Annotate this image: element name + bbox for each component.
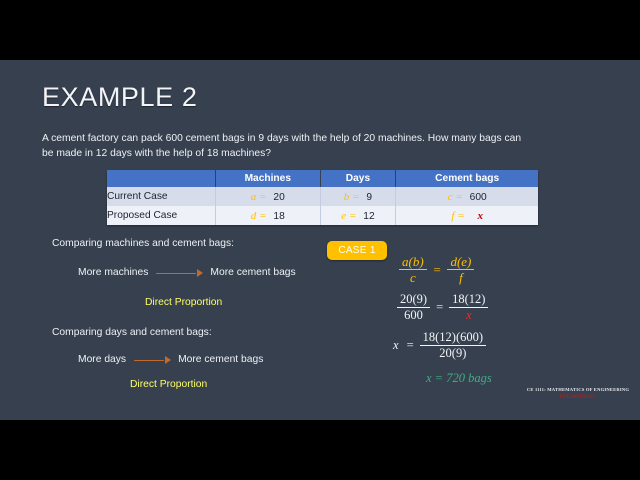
- conclusion-direct-proportion-1: Direct Proportion: [145, 297, 222, 308]
- equals-sign: =: [433, 262, 442, 278]
- conclusion-direct-proportion-2: Direct Proportion: [130, 379, 207, 390]
- row-label-current-case: Current Case: [107, 187, 216, 206]
- relation-machines-bags: More machines More cement bags: [78, 267, 296, 278]
- value-proposed-machines: 18: [273, 211, 284, 222]
- numerator-18-12: 18(12): [449, 293, 488, 307]
- cell-current-machines: a = 20: [216, 187, 321, 206]
- table-body: Current Case a = 20 b = 9 c = 600: [107, 187, 538, 225]
- equation-solve-for-x: x = 18(12)(600) 20(9): [393, 331, 596, 359]
- table-row: Current Case a = 20 b = 9 c = 600: [107, 187, 538, 206]
- denominator-unknown-x: x: [463, 308, 475, 322]
- watermark-logo: ENGINEERING: [524, 394, 632, 400]
- column-header-cement-bags: Cement bags: [396, 170, 538, 187]
- denominator-f: f: [456, 270, 466, 284]
- fraction-right-numeric: 18(12) x: [449, 293, 488, 321]
- fraction-left-numeric: 20(9) 600: [397, 293, 430, 321]
- equals-sign: =: [457, 210, 464, 222]
- cell-proposed-machines: d = 18: [216, 206, 321, 225]
- equals-sign: =: [436, 300, 443, 315]
- value-proposed-days: 12: [363, 211, 374, 222]
- comparison-heading-machines-bags: Comparing machines and cement bags:: [52, 238, 234, 249]
- cell-current-days: b = 9: [320, 187, 396, 206]
- numerator-de: d(e): [447, 255, 474, 269]
- arrow-right-icon: [134, 355, 170, 365]
- value-proposed-bags-unknown: x: [478, 210, 484, 222]
- value-current-machines: 20: [273, 192, 284, 203]
- equals-sign: =: [259, 191, 266, 203]
- relation-left-days: More days: [78, 354, 126, 365]
- equals-sign: =: [259, 210, 266, 222]
- relation-days-bags: More days More cement bags: [78, 354, 263, 365]
- var-letter-a: a: [251, 191, 257, 203]
- column-header-blank: [107, 170, 216, 187]
- relation-left-machines: More machines: [78, 267, 148, 278]
- var-letter-d: d: [251, 210, 257, 222]
- screenshot-stage: EXAMPLE 2 A cement factory can pack 600 …: [0, 0, 640, 480]
- fraction-left-formula: a(b) c: [399, 255, 427, 284]
- column-header-machines: Machines: [216, 170, 321, 187]
- cell-current-bags: c = 600: [396, 187, 538, 206]
- table-row: Proposed Case d = 18 e = 12 f = x: [107, 206, 538, 225]
- arrow-right-icon: [156, 268, 202, 278]
- variable-x: x: [393, 338, 399, 353]
- numerator-ab: a(b): [399, 255, 427, 269]
- equals-sign: =: [455, 191, 462, 203]
- fraction-solution: 18(12)(600) 20(9): [420, 331, 486, 359]
- comparison-heading-days-bags: Comparing days and cement bags:: [52, 327, 212, 338]
- var-letter-b: b: [344, 191, 350, 203]
- slide-canvas: EXAMPLE 2 A cement factory can pack 600 …: [0, 60, 640, 420]
- column-header-days: Days: [320, 170, 396, 187]
- value-current-bags: 600: [470, 192, 487, 203]
- var-letter-f: f: [451, 210, 454, 222]
- equation-general-formula: a(b) c = d(e) f: [399, 255, 596, 284]
- page-title: EXAMPLE 2: [42, 82, 197, 113]
- equals-sign: =: [407, 338, 414, 353]
- denominator-c: c: [407, 270, 419, 284]
- final-answer: x = 720 bags: [426, 371, 596, 386]
- status-badge-case-1: CASE 1: [327, 241, 387, 260]
- watermark: CE 1111: MATHEMATICS OF ENGINEERING ENGI…: [524, 387, 632, 400]
- fraction-right-formula: d(e) f: [447, 255, 474, 284]
- table-header-row: Machines Days Cement bags: [107, 170, 538, 187]
- problem-statement: A cement factory can pack 600 cement bag…: [42, 132, 524, 161]
- denominator-20-9: 20(9): [436, 346, 469, 360]
- equals-sign: =: [352, 191, 359, 203]
- watermark-course-text: CE 1111: MATHEMATICS OF ENGINEERING: [524, 387, 632, 392]
- value-current-days: 9: [366, 192, 372, 203]
- var-letter-e: e: [341, 210, 346, 222]
- equation-substituted-values: 20(9) 600 = 18(12) x: [397, 293, 596, 321]
- numerator-20-9: 20(9): [397, 293, 430, 307]
- denominator-600: 600: [401, 308, 426, 322]
- cell-proposed-bags: f = x: [396, 206, 538, 225]
- relation-right-bags: More cement bags: [210, 267, 295, 278]
- solution-math-block: a(b) c = d(e) f 20(9) 600 =: [396, 255, 596, 386]
- cell-proposed-days: e = 12: [320, 206, 396, 225]
- proportion-table: Machines Days Cement bags Current Case a…: [107, 170, 538, 225]
- relation-right-bags: More cement bags: [178, 354, 263, 365]
- row-label-proposed-case: Proposed Case: [107, 206, 216, 225]
- var-letter-c: c: [448, 191, 453, 203]
- equals-sign: =: [349, 210, 356, 222]
- numerator-18-12-600: 18(12)(600): [420, 331, 486, 345]
- table-header: Machines Days Cement bags: [107, 170, 538, 187]
